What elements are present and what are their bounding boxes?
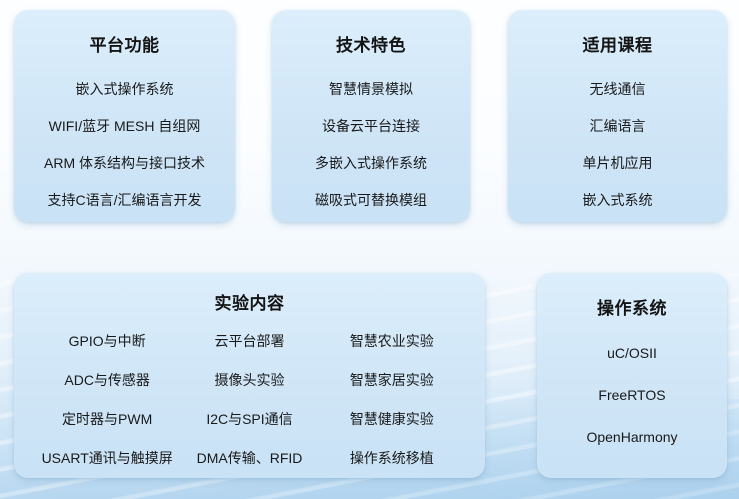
list-item: 设备云平台连接 [272, 119, 470, 133]
card-title: 平台功能 [14, 37, 235, 54]
list-item: 嵌入式系统 [508, 193, 727, 207]
list-item: ADC与传感器 [36, 373, 178, 387]
list-item: ARM 体系结构与接口技术 [14, 156, 235, 170]
card-title: 技术特色 [272, 37, 470, 54]
list-item: 智慧健康实验 [321, 412, 463, 426]
card-title: 操作系统 [537, 300, 727, 317]
experiment-column-1: GPIO与中断 ADC与传感器 定时器与PWM USART通讯与触摸屏 [36, 334, 178, 465]
experiment-column-3: 智慧农业实验 智慧家居实验 智慧健康实验 操作系统移植 [321, 334, 463, 465]
list-item: 智慧农业实验 [321, 334, 463, 348]
card-platform-features[interactable]: 平台功能 嵌入式操作系统 WIFI/蓝牙 MESH 自组网 ARM 体系结构与接… [14, 10, 235, 222]
card-applicable-courses[interactable]: 适用课程 无线通信 汇编语言 单片机应用 嵌入式系统 [508, 10, 727, 222]
list-item: 无线通信 [508, 82, 727, 96]
list-item: 支持C语言/汇编语言开发 [14, 193, 235, 207]
card-item-list: 智慧情景模拟 设备云平台连接 多嵌入式操作系统 磁吸式可替换模组 [272, 82, 470, 207]
card-item-list: 嵌入式操作系统 WIFI/蓝牙 MESH 自组网 ARM 体系结构与接口技术 支… [14, 82, 235, 207]
experiment-columns: GPIO与中断 ADC与传感器 定时器与PWM USART通讯与触摸屏 云平台部… [14, 334, 485, 465]
list-item: 操作系统移植 [321, 451, 463, 465]
card-technical-features[interactable]: 技术特色 智慧情景模拟 设备云平台连接 多嵌入式操作系统 磁吸式可替换模组 [272, 10, 470, 222]
card-item-list: 无线通信 汇编语言 单片机应用 嵌入式系统 [508, 82, 727, 207]
experiment-column-2: 云平台部署 摄像头实验 I2C与SPI通信 DMA传输、RFID [178, 334, 320, 465]
card-operating-systems[interactable]: 操作系统 uC/OSII FreeRTOS OpenHarmony [537, 273, 727, 478]
list-item: FreeRTOS [537, 388, 727, 402]
card-title: 适用课程 [508, 37, 727, 54]
slide-canvas: 平台功能 嵌入式操作系统 WIFI/蓝牙 MESH 自组网 ARM 体系结构与接… [0, 0, 739, 499]
list-item: 汇编语言 [508, 119, 727, 133]
list-item: 智慧情景模拟 [272, 82, 470, 96]
list-item: 云平台部署 [178, 334, 320, 348]
list-item: GPIO与中断 [36, 334, 178, 348]
list-item: WIFI/蓝牙 MESH 自组网 [14, 119, 235, 133]
list-item: 磁吸式可替换模组 [272, 193, 470, 207]
list-item: 嵌入式操作系统 [14, 82, 235, 96]
list-item: 摄像头实验 [178, 373, 320, 387]
list-item: 多嵌入式操作系统 [272, 156, 470, 170]
card-title: 实验内容 [14, 295, 485, 312]
card-experiment-content[interactable]: 实验内容 GPIO与中断 ADC与传感器 定时器与PWM USART通讯与触摸屏… [14, 273, 485, 478]
list-item: DMA传输、RFID [178, 451, 320, 465]
list-item: USART通讯与触摸屏 [36, 451, 178, 465]
list-item: 定时器与PWM [36, 412, 178, 426]
list-item: uC/OSII [537, 346, 727, 360]
list-item: I2C与SPI通信 [178, 412, 320, 426]
card-item-list: uC/OSII FreeRTOS OpenHarmony [537, 346, 727, 444]
list-item: OpenHarmony [537, 430, 727, 444]
list-item: 单片机应用 [508, 156, 727, 170]
list-item: 智慧家居实验 [321, 373, 463, 387]
